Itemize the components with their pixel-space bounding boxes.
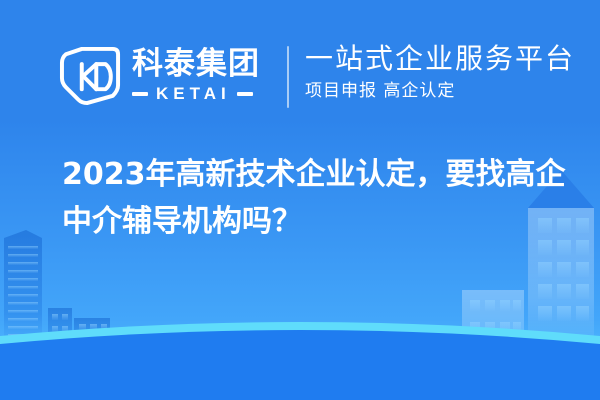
logo-right-dash-icon [237, 92, 253, 96]
brand-tagline: 一站式企业服务平台 项目申报 高企认定 [305, 41, 585, 102]
promo-banner: 科泰集团 KETAI 一站式企业服务平台 项目申报 高企认定 2023年高新技术… [0, 0, 600, 400]
brand-logo[interactable]: 科泰集团 KETAI [58, 40, 260, 112]
logo-english-name: KETAI [148, 84, 237, 104]
tagline-main: 一站式企业服务平台 [305, 41, 585, 76]
banner-header: 科泰集团 KETAI 一站式企业服务平台 项目申报 高企认定 [0, 0, 600, 150]
logo-english-row: KETAI [132, 84, 260, 104]
tagline-sub: 项目申报 高企认定 [305, 80, 585, 102]
logo-left-dash-icon [132, 92, 148, 96]
curved-ground-icon [0, 300, 600, 400]
ketai-kp-monogram-icon [58, 43, 124, 109]
logo-wordmark: 科泰集团 KETAI [132, 48, 260, 104]
vertical-divider-icon [287, 46, 289, 108]
page-title: 2023年高新技术企业认定，要找高企中介辅导机构吗？ [62, 152, 582, 245]
logo-chinese-name: 科泰集团 [132, 48, 260, 81]
